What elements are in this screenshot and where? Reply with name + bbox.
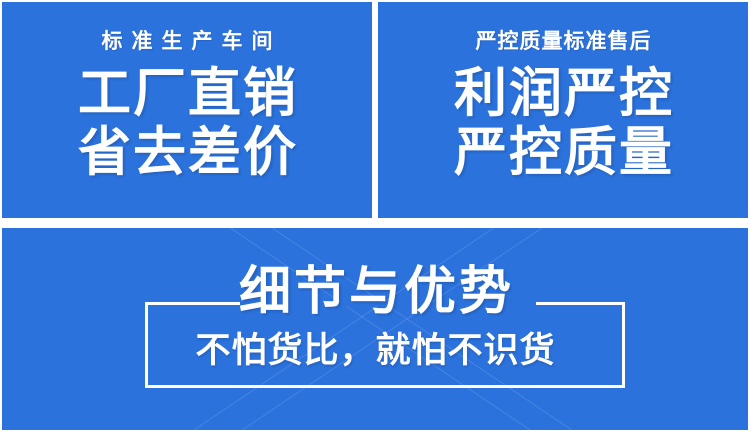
bottom-panel-title: 细节与优势 bbox=[2, 266, 748, 318]
panel-quality-control: 严控质量标准售后 利润严控 严控质量 bbox=[378, 2, 748, 218]
panel-factory-direct: 标准生产车间 工厂直销 省去差价 bbox=[2, 2, 372, 218]
panel-details-advantages: 细节与优势 不怕货比，就怕不识货 bbox=[2, 228, 748, 430]
top-panel-row: 标准生产车间 工厂直销 省去差价 严控质量标准售后 利润严控 严控质量 bbox=[2, 2, 748, 218]
right-panel-eyebrow: 严控质量标准售后 bbox=[475, 31, 652, 52]
bottom-panel-subtitle: 不怕货比，就怕不识货 bbox=[2, 333, 748, 368]
left-panel-headline-line2: 省去差价 bbox=[76, 124, 298, 181]
left-panel-headline-line1: 工厂直销 bbox=[76, 65, 298, 122]
right-panel-headline-line2: 严控质量 bbox=[452, 124, 674, 181]
left-panel-eyebrow: 标准生产车间 bbox=[93, 31, 282, 52]
promo-banner: 标准生产车间 工厂直销 省去差价 严控质量标准售后 利润严控 严控质量 细节与优… bbox=[0, 0, 750, 440]
right-panel-headline-line1: 利润严控 bbox=[452, 65, 674, 122]
